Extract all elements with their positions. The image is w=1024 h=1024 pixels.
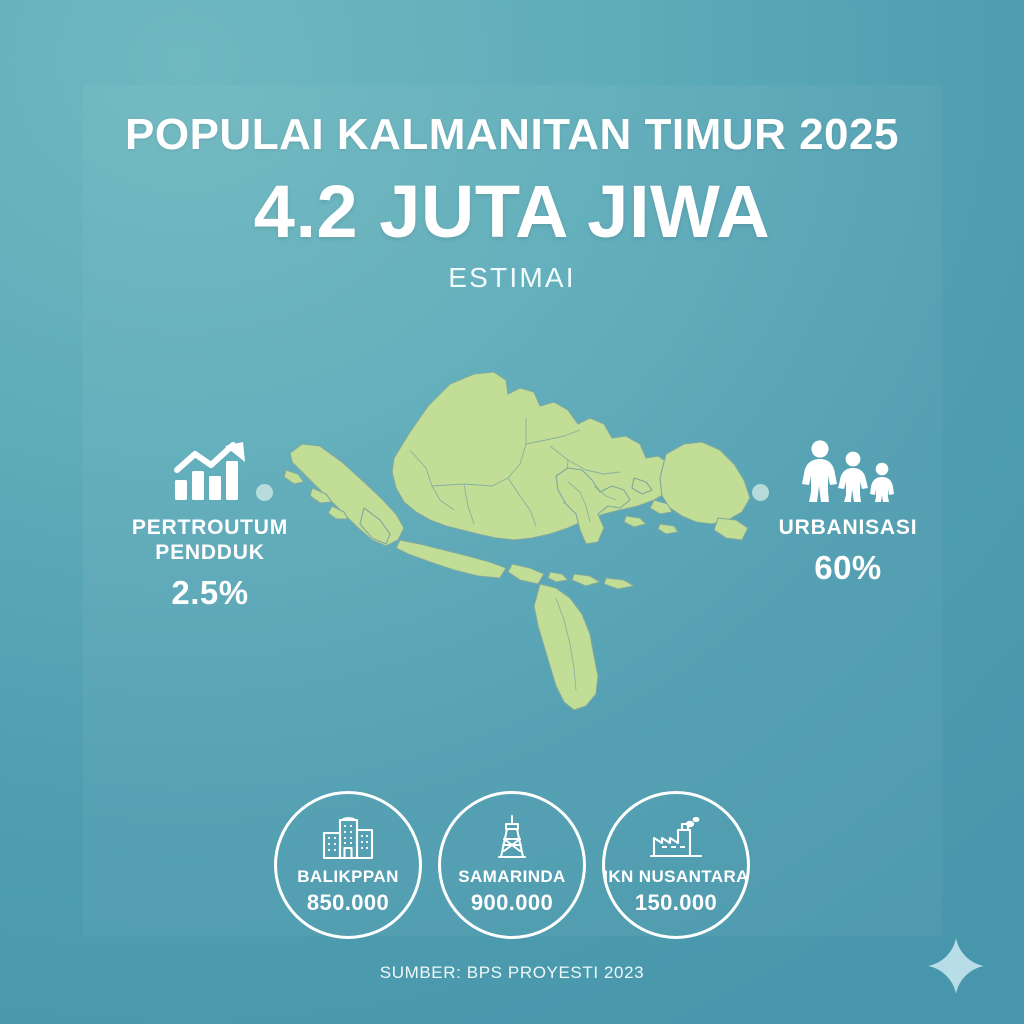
city-population: 150.000 [635,890,717,916]
tower-icon [491,815,533,861]
stat-urbanization-value: 60% [733,549,963,587]
stat-urbanization-label: URBANISASI [733,516,963,541]
stat-growth-value: 2.5% [95,574,325,612]
header: POPULAI KALMANITAN TIMUR 2025 4.2 JUTA J… [0,112,1024,294]
headline-subtitle: ESTIMAI [0,262,1024,294]
population-headline: 4.2 JUTA JIWA [0,174,1024,249]
factory-icon [649,815,703,861]
stat-growth: PERTROUTUM PENDDUK 2.5% [95,440,325,612]
buildings-icon [321,815,375,861]
city-card-samarinda[interactable]: SAMARINDA 900.000 [438,791,586,939]
city-name: BALIKPPAN [297,867,399,887]
indonesia-map [268,358,760,720]
stat-urbanization: URBANISASI 60% [733,440,963,587]
sparkle-icon [925,935,987,997]
page-title: POPULAI KALMANITAN TIMUR 2025 [0,112,1024,158]
city-population: 850.000 [307,890,389,916]
accent-dot-right [752,484,769,501]
city-population: 900.000 [471,890,553,916]
infographic-canvas: POPULAI KALMANITAN TIMUR 2025 4.2 JUTA J… [0,0,1024,1024]
source-note: SUMBER: BPS PROYESTI 2023 [0,963,1024,983]
growth-chart-icon [95,440,325,502]
accent-dot-left [256,484,273,501]
city-stats-row: BALIKPPAN 850.000 SAMARINDA 900.000 [0,791,1024,939]
city-name: IKN NUSANTARA [603,867,749,887]
city-card-ikn-nusantara[interactable]: IKN NUSANTARA 150.000 [602,791,750,939]
city-card-balikppan[interactable]: BALIKPPAN 850.000 [274,791,422,939]
stat-growth-label: PERTROUTUM PENDDUK [95,516,325,566]
city-name: SAMARINDA [458,867,565,887]
